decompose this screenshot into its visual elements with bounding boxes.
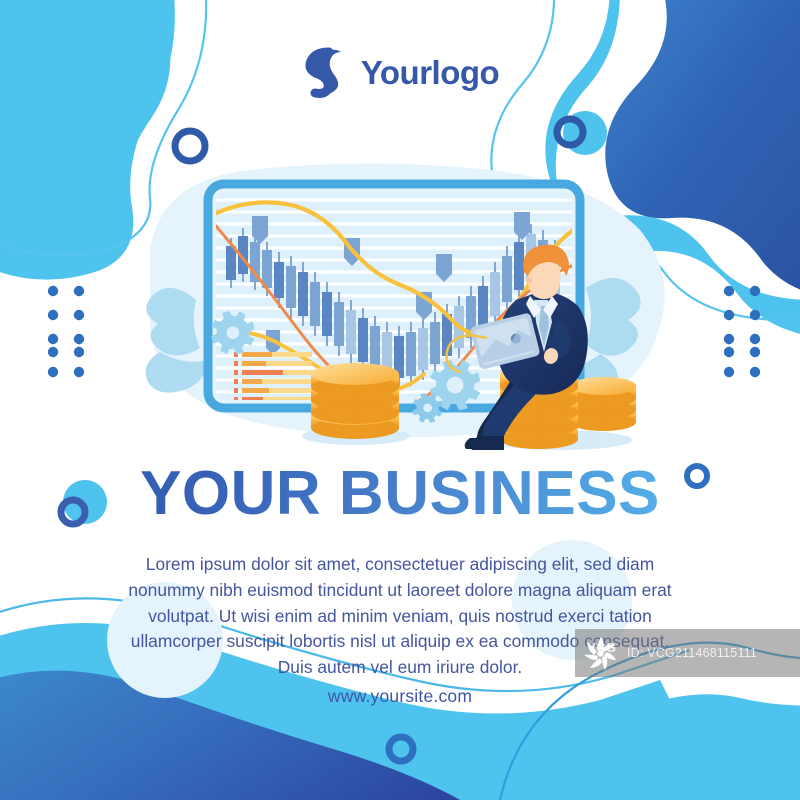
watermark-id: ID: VCG211468115111: [627, 646, 757, 660]
s-swirl-logo-icon: [301, 46, 347, 98]
page-title: YOUR BUSINESS: [0, 461, 800, 527]
flower-burst-icon: [581, 633, 621, 673]
brand-logo[interactable]: Yourlogo: [0, 46, 800, 98]
brand-logo-text: Yourlogo: [361, 56, 499, 89]
gold-coin-stack-icon: [311, 363, 399, 439]
watermark-overlay: VCG ID: VCG211468115111: [575, 629, 800, 677]
gold-coin-stack-icon: [570, 377, 636, 431]
website-url[interactable]: www.yoursite.com: [0, 686, 800, 707]
poster-canvas: Yourlogo YOUR BUSINESS Lorem ipsum dolor…: [0, 0, 800, 800]
